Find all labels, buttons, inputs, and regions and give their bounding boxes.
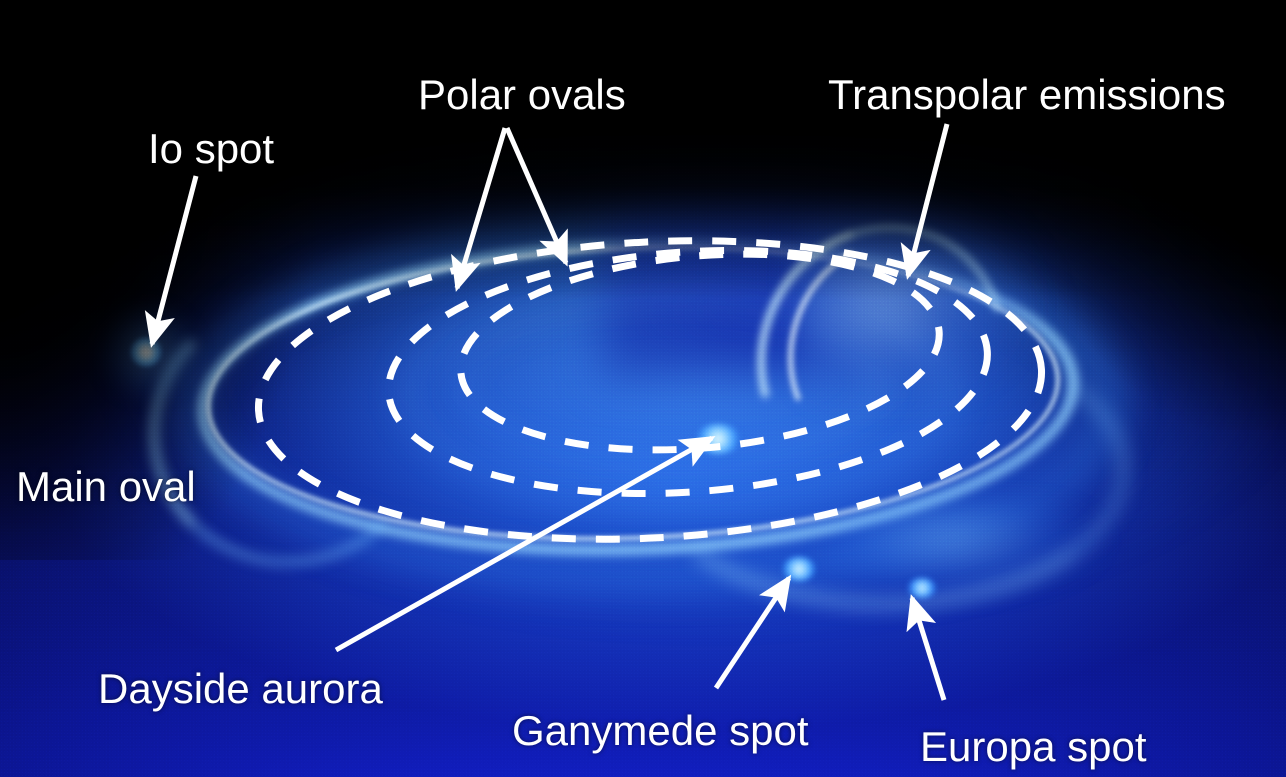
arrow-dayside-aurora — [336, 438, 712, 650]
label-main-oval: Main oval — [16, 466, 196, 508]
label-polar-ovals: Polar ovals — [418, 74, 626, 116]
oval-polar-inner — [453, 235, 948, 468]
label-io-spot: Io spot — [148, 128, 274, 170]
arrow-polar-oval-right — [507, 128, 566, 263]
aurora-figure: Io spotPolar ovalsTranspolar emissionsMa… — [0, 0, 1286, 777]
arrow-ganymede-spot — [716, 578, 789, 688]
oval-main — [251, 222, 1049, 559]
arrow-europa-spot — [912, 598, 944, 700]
oval-polar-outer — [380, 231, 995, 512]
label-europa-spot: Europa spot — [920, 726, 1147, 768]
label-transpolar-emissions: Transpolar emissions — [828, 74, 1226, 116]
annotation-arrows-group — [152, 124, 947, 700]
dashed-ovals-group — [251, 222, 1049, 559]
arrow-transpolar-emissions — [908, 124, 947, 276]
label-dayside-aurora: Dayside aurora — [98, 668, 383, 710]
label-ganymede-spot: Ganymede spot — [512, 710, 809, 752]
arrow-io-spot — [152, 176, 196, 344]
arrow-polar-oval-left — [457, 128, 505, 288]
